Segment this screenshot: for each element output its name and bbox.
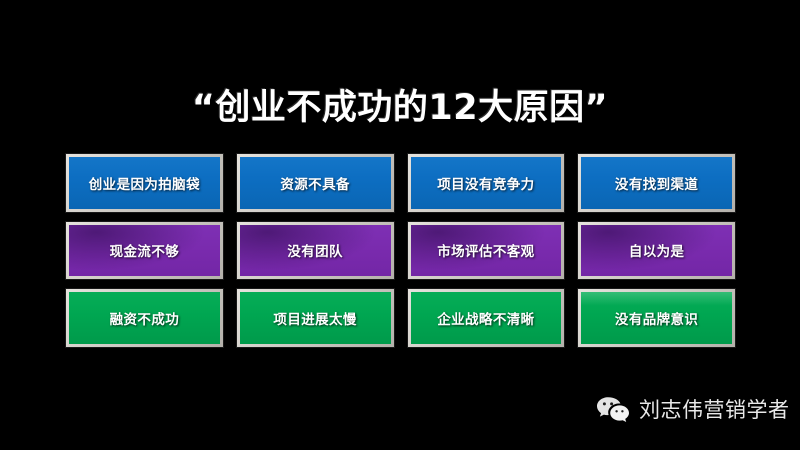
reason-tile-5-label: 现金流不够	[110, 240, 180, 260]
reason-tile-1[interactable]: 创业是因为拍脑袋	[66, 154, 223, 212]
reason-tile-12[interactable]: 没有品牌意识	[578, 289, 735, 347]
reason-tile-12-label: 没有品牌意识	[615, 308, 698, 328]
reason-tile-12-fill: 没有品牌意识	[581, 292, 732, 344]
reason-tile-11-fill: 企业战略不清晰	[411, 292, 562, 344]
wechat-icon	[596, 396, 630, 424]
watermark: 刘志伟营销学者	[596, 396, 790, 424]
reason-tile-8-label: 自以为是	[629, 240, 685, 260]
reason-tile-5-fill: 现金流不够	[69, 225, 220, 277]
reason-tile-4-label: 没有找到渠道	[615, 173, 698, 193]
reason-tile-7-label: 市场评估不客观	[437, 240, 534, 260]
reason-tile-5[interactable]: 现金流不够	[66, 222, 223, 280]
watermark-label: 刘志伟营销学者	[639, 400, 790, 421]
reason-tile-3-label: 项目没有竞争力	[437, 173, 534, 193]
reason-tile-3-fill: 项目没有竞争力	[411, 157, 562, 209]
reason-tile-6-fill: 没有团队	[240, 225, 391, 277]
reason-tile-10-label: 项目进展太慢	[273, 308, 356, 328]
page-title: “创业不成功的12大原因”	[192, 88, 608, 128]
reason-tile-2-fill: 资源不具备	[240, 157, 391, 209]
reason-tile-1-fill: 创业是因为拍脑袋	[69, 157, 220, 209]
reason-tile-1-label: 创业是因为拍脑袋	[89, 173, 200, 193]
reason-tile-8-fill: 自以为是	[581, 225, 732, 277]
reason-tile-7[interactable]: 市场评估不客观	[408, 222, 565, 280]
reason-tile-11-label: 企业战略不清晰	[437, 308, 534, 328]
reason-tile-4[interactable]: 没有找到渠道	[578, 154, 735, 212]
reason-tile-4-fill: 没有找到渠道	[581, 157, 732, 209]
slide-title-container: “创业不成功的12大原因”	[0, 88, 800, 128]
reason-tile-3[interactable]: 项目没有竞争力	[408, 154, 565, 212]
reason-tile-10[interactable]: 项目进展太慢	[237, 289, 394, 347]
reason-tile-8[interactable]: 自以为是	[578, 222, 735, 280]
slide-canvas: “创业不成功的12大原因” 创业是因为拍脑袋 资源不具备 项目没有竞争力 没有找…	[0, 0, 800, 450]
reason-tile-2-label: 资源不具备	[280, 173, 350, 193]
reason-tile-10-fill: 项目进展太慢	[240, 292, 391, 344]
reason-tile-7-fill: 市场评估不客观	[411, 225, 562, 277]
reason-tile-9[interactable]: 融资不成功	[66, 289, 223, 347]
reason-tile-2[interactable]: 资源不具备	[237, 154, 394, 212]
reason-tile-11[interactable]: 企业战略不清晰	[408, 289, 565, 347]
reason-tile-6[interactable]: 没有团队	[237, 222, 394, 280]
reason-grid: 创业是因为拍脑袋 资源不具备 项目没有竞争力 没有找到渠道 现金流不够	[66, 154, 735, 347]
reason-tile-9-label: 融资不成功	[110, 308, 180, 328]
reason-tile-6-label: 没有团队	[287, 240, 343, 260]
reason-tile-9-fill: 融资不成功	[69, 292, 220, 344]
